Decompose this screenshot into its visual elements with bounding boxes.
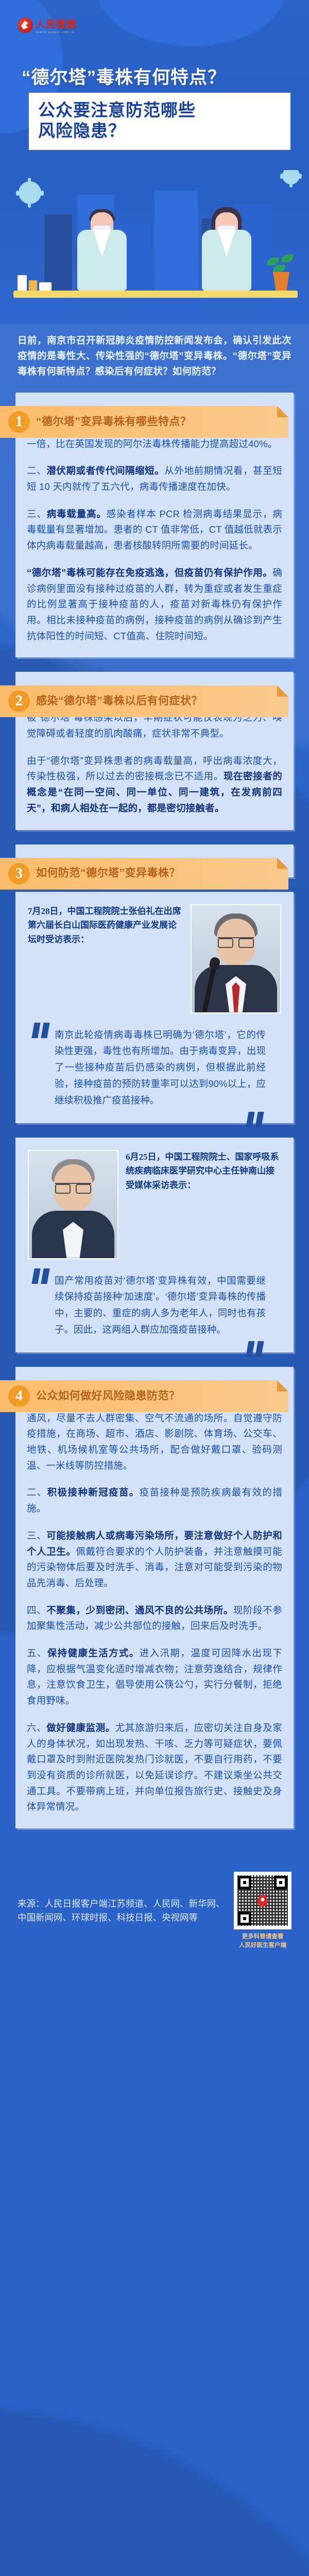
paragraph: 四、不聚集，少到密闭、通风不良的公共场所。现阶段不参加聚集性活动，减少公共部位的… [27, 1603, 282, 1634]
quote-close-icon [247, 1341, 266, 1357]
para-bold: 病毒载量高。 [47, 509, 107, 519]
section-title-2: 感染“德尔塔”毒株以后有何症状？ [36, 694, 202, 708]
expert-quote-text-zhongnanshan: 国产常用疫苗对‘德尔塔’变异株有效，中国需要继续保持疫苗接种‘加速度’。‘德尔塔… [55, 1273, 266, 1338]
expert-quote-zhangboli: 7月28日，中国工程院院士张伯礼在出席第六届长白山国际医药健康产业发展论坛时受访… [15, 892, 294, 1123]
brand-name: 人民健康 [36, 19, 77, 30]
paragraph: 由于“德尔塔”变异株患者的病毒载量高，呼出病毒浓度大，传染性极强，所以过去的密接… [27, 753, 282, 817]
hero-subtitle-line2: 风险隐患？ [38, 121, 282, 141]
paragraph: 二、积极接种新冠疫苗。疫苗接种是预防疾病最有效的措施。 [27, 1485, 282, 1516]
para-rest: 确诊病例里面没有接种过疫苗的人群，转为重症或者发生重症的比例显著高于接种疫苗的人… [27, 567, 282, 641]
qr-caption-line1: 更多科普请查看 [234, 1933, 291, 1941]
section-ribbon-2: 2 感染“德尔塔”毒株以后有何症状？ [0, 685, 288, 717]
paragraph: 三、病毒载量高。感染者样本 PCR 检测病毒结果显示，病毒载量有显著增加。患者的… [27, 506, 282, 554]
doctors-illustration [0, 170, 309, 325]
hero-subtitle-box: 公众要注意防范哪些 风险隐患？ [29, 93, 290, 150]
qr-caption: 更多科普请查看 人民好医生客户端 [234, 1933, 291, 1950]
expert-portrait-zhongnanshan [28, 1150, 118, 1259]
paragraph: “德尔塔”毒株可能存在免疫逃逸，但疫苗仍有保护作用。确诊病例里面没有接种过疫苗的… [27, 565, 282, 645]
page-title: “德尔塔”毒株有何特点？ [22, 63, 298, 89]
brand-logo: 人民健康 health.people.com.cn [18, 16, 77, 34]
expert-quote-zhongnanshan: 6月25日，中国工程院院士、国家呼吸系统疾病临床医学研究中心主任钟南山接受媒体采… [15, 1138, 294, 1352]
expert-meta-zhangboli: 7月28日，中国工程院院士张伯礼在出席第六届长白山国际医药健康产业发展论坛时受访… [28, 904, 183, 947]
quote-open-icon [33, 1023, 51, 1038]
desk [13, 291, 298, 298]
section-title-4: 公众如何做好风险隐患防范？ [36, 1389, 180, 1403]
para-bold: 做好健康监测。 [46, 1722, 115, 1733]
section-ribbon-3: 3 如何防范“德尔塔”变异毒株？ [0, 858, 288, 890]
expert-portrait-zhangboli [191, 904, 281, 1013]
quote-close-icon [247, 1112, 266, 1127]
section-card-1: 1 “德尔塔”变异毒株有哪些特点？ 一、传播能力显著增强。比以往其他毒株的传播能… [15, 393, 294, 657]
expert-meta-zhongnanshan: 6月25日，中国工程院院士、国家呼吸系统疾病临床医学研究中心主任钟南山接受媒体采… [126, 1150, 281, 1193]
para-rest: 尤其旅游归来后，应密切关注自身及家人的身体状况，如出现发热、干咳、乏力等可疑症状… [27, 1722, 282, 1812]
section-title-1: “德尔塔”变异毒株有哪些特点？ [36, 415, 192, 429]
section-card-4: 4 公众如何做好风险隐患防范？ 一、坚持常态化疫情防控措施。科学佩戴口罩，勤洗手… [15, 1367, 294, 1828]
plant-pot-icon [271, 272, 291, 291]
paragraph: 二、潜伏期或者传代间隔缩短。从外地前期情况看，甚至短短 10 天内就传了五六代，… [27, 463, 282, 495]
virus-icon-right [282, 170, 300, 184]
expert-quote-text-zhangboli: 南京此轮疫情病毒毒株已明确为‘德尔塔’，它的传染性更强，毒性也有所增加。由于病毒… [55, 1027, 266, 1109]
section-title-3: 如何防范“德尔塔”变异毒株？ [36, 867, 180, 880]
section-body-2: 被“德尔塔”毒株感染以后，早期症状可能仅表现为乏力、嗅觉障碍或者轻度的肌肉酸痛，… [27, 710, 282, 816]
location-pin-icon [257, 1894, 268, 1907]
paragraph: 三、可能接触病人或病毒污染场所，要注意做好个人防护和个人卫生。佩戴符合要求的个人… [27, 1528, 282, 1591]
section-card-2: 2 感染“德尔塔”毒株以后有何症状？ 被“德尔塔”毒株感染以后，早期症状可能仅表… [15, 672, 294, 829]
para-lead: 六、 [27, 1722, 46, 1733]
para-lead: 四、 [27, 1605, 46, 1616]
qr-code-icon[interactable] [234, 1872, 291, 1929]
expert-quote-block-zhangboli: 南京此轮疫情病毒毒株已明确为‘德尔塔’，它的传染性更强，毒性也有所增加。由于病毒… [28, 1027, 281, 1109]
para-bold: 不聚集，少到密闭、通风不良的公共场所。 [46, 1605, 233, 1616]
expert-quote-block-zhongnanshan: 国产常用疫苗对‘德尔塔’变异株有效，中国需要继续保持疫苗接种‘加速度’。‘德尔塔… [28, 1273, 281, 1338]
qr-caption-line2: 人民好医生客户端 [234, 1941, 291, 1950]
medicine-icons [18, 275, 51, 291]
section-number-3: 3 [8, 863, 30, 885]
section-ribbon-1: 1 “德尔塔”变异毒株有哪些特点？ [0, 406, 288, 438]
para-lead: 二、 [27, 1487, 47, 1498]
section-number-2: 2 [8, 690, 30, 712]
intro-paragraph: 日前，南京市召开新冠肺炎疫情防控新闻发布会，确认引发此次疫情的是毒性大、传染性强… [0, 325, 309, 393]
doctor-male-figure [77, 230, 127, 291]
para-bold: “德尔塔”毒株可能存在免疫逃逸，但疫苗仍有保护作用。 [27, 567, 272, 578]
paragraph: 五、保持健康生活方式。进入汛期，温度可因降水出现下降，应根据气温变化适时增减衣物… [27, 1646, 282, 1709]
para-lead: 五、 [27, 1648, 47, 1658]
section-number-1: 1 [8, 411, 30, 433]
plant-leaves-icon [267, 253, 294, 274]
para-bold: 保持健康生活方式。 [47, 1648, 140, 1658]
section-number-4: 4 [8, 1385, 30, 1407]
section-card-3: 3 如何防范“德尔塔”变异毒株？ [15, 844, 294, 877]
infographic-page: 人民健康 health.people.com.cn “德尔塔”毒株有何特点？ 公… [0, 0, 309, 2576]
para-lead: 三、 [27, 1530, 46, 1541]
footer: 来源：人民日报客户端江苏频道、人民网、新华网、中国新闻网、环球时报、科技日报、央… [0, 1843, 309, 1970]
section-ribbon-4: 4 公众如何做好风险隐患防范？ [0, 1380, 288, 1412]
section-body-4: 一、坚持常态化疫情防控措施。科学佩戴口罩，勤洗手，常通风，尽量不去人群密集、空气… [27, 1395, 282, 1815]
section-body-1: 一、传播能力显著增强。比以往其他毒株的传播能力提高了一倍，比在英国发现的阿尔法毒… [27, 420, 282, 644]
virus-icon-left [19, 181, 41, 204]
doctor-female-figure [202, 230, 251, 291]
para-lead: 三、 [27, 509, 47, 519]
hero-subtitle-line1: 公众要注意防范哪些 [38, 100, 282, 121]
brand-pinyin: health.people.com.cn [36, 31, 77, 34]
quote-open-icon [33, 1268, 51, 1284]
para-lead: 二、 [27, 465, 46, 476]
para-bold: 潜伏期或者传代间隔缩短。 [46, 465, 164, 476]
paragraph: 六、做好健康监测。尤其旅游归来后，应密切关注自身及家人的身体状况，如出现发热、干… [27, 1720, 282, 1815]
hero-banner: 人民健康 health.people.com.cn “德尔塔”毒株有何特点？ 公… [0, 0, 309, 170]
qr-block: 更多科普请查看 人民好医生客户端 [234, 1872, 291, 1950]
para-bold: 积极接种新冠疫苗。 [47, 1487, 140, 1498]
source-text: 来源：人民日报客户端江苏频道、人民网、新华网、中国新闻网、环球时报、科技日报、央… [18, 1897, 227, 1924]
people-health-logo-icon [18, 18, 33, 33]
